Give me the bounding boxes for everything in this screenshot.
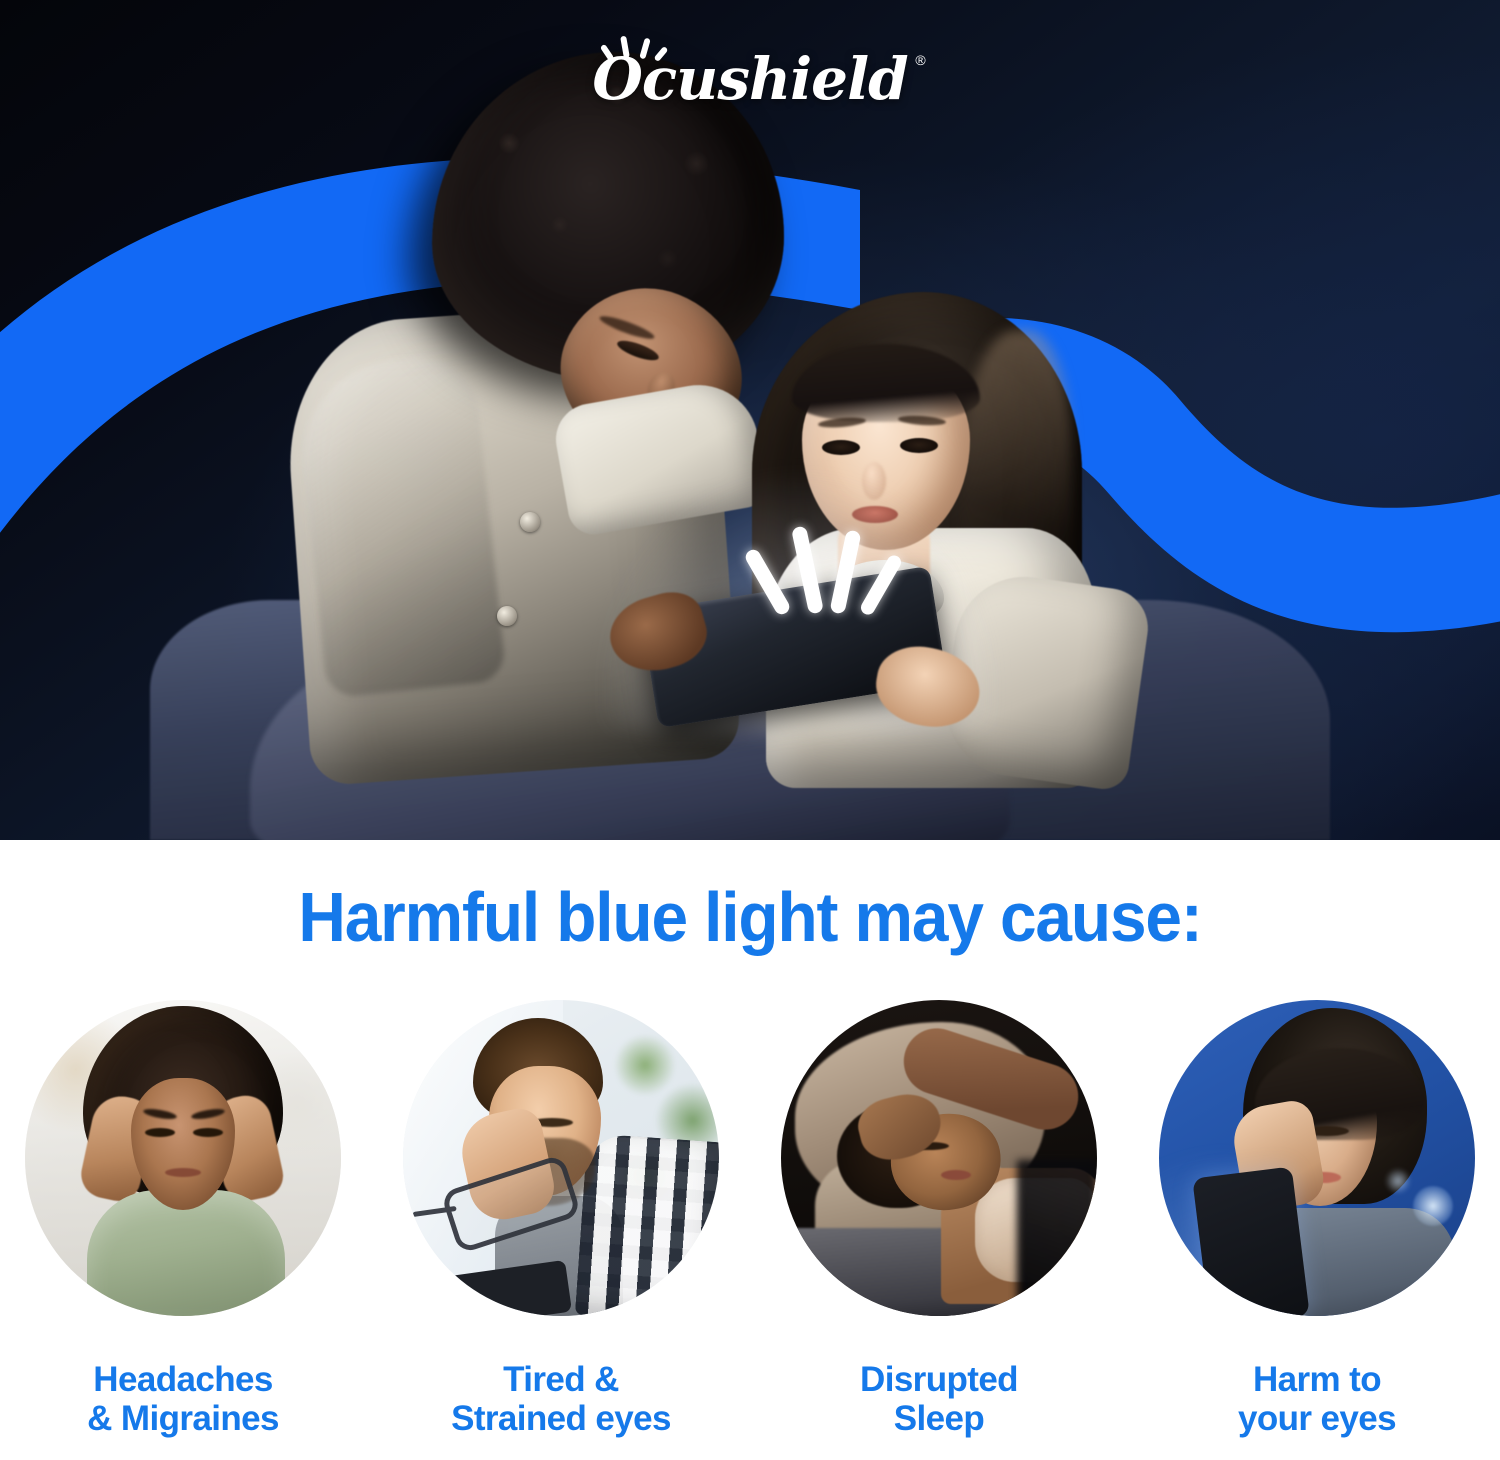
hero-section: Ocushield ® (0, 0, 1500, 840)
eye-harm-photo (1159, 1000, 1475, 1316)
symptom-card-tired-strained-eyes[interactable]: Tired & Strained eyes (402, 1000, 720, 1438)
symptom-card-disrupted-sleep[interactable]: Disrupted Sleep (780, 1000, 1098, 1438)
page-title: Harmful blue light may cause: (45, 882, 1455, 952)
light-ray (829, 529, 861, 614)
light-ray (791, 525, 824, 614)
eye-strain-photo (403, 1000, 719, 1316)
girl-eye-left (822, 440, 860, 455)
light-rays-icon (752, 508, 902, 614)
headache-photo (25, 1000, 341, 1316)
symptom-label: Harm to your eyes (1238, 1360, 1396, 1438)
symptom-label: Tired & Strained eyes (451, 1360, 671, 1438)
jacket-button (497, 606, 517, 626)
boy-jacket-fold (293, 351, 507, 698)
light-ray (858, 553, 903, 617)
hero-photo (0, 0, 1500, 840)
symptoms-section: Harmful blue light may cause: Headaches … (0, 840, 1500, 1460)
symptom-card-harm-to-your-eyes[interactable]: Harm to your eyes (1158, 1000, 1476, 1438)
symptom-label: Disrupted Sleep (860, 1360, 1018, 1438)
product-infographic: Ocushield ® Harmful blue light may cause… (0, 0, 1500, 1460)
symptom-label: Headaches & Migraines (87, 1360, 279, 1438)
disrupted-sleep-photo (781, 1000, 1097, 1316)
girl-eye-right (900, 438, 938, 453)
girl-nose (862, 462, 886, 500)
jacket-button (520, 512, 540, 532)
symptom-card-list: Headaches & Migraines Tired & Strained e… (0, 1000, 1500, 1438)
symptom-card-headaches[interactable]: Headaches & Migraines (24, 1000, 342, 1438)
